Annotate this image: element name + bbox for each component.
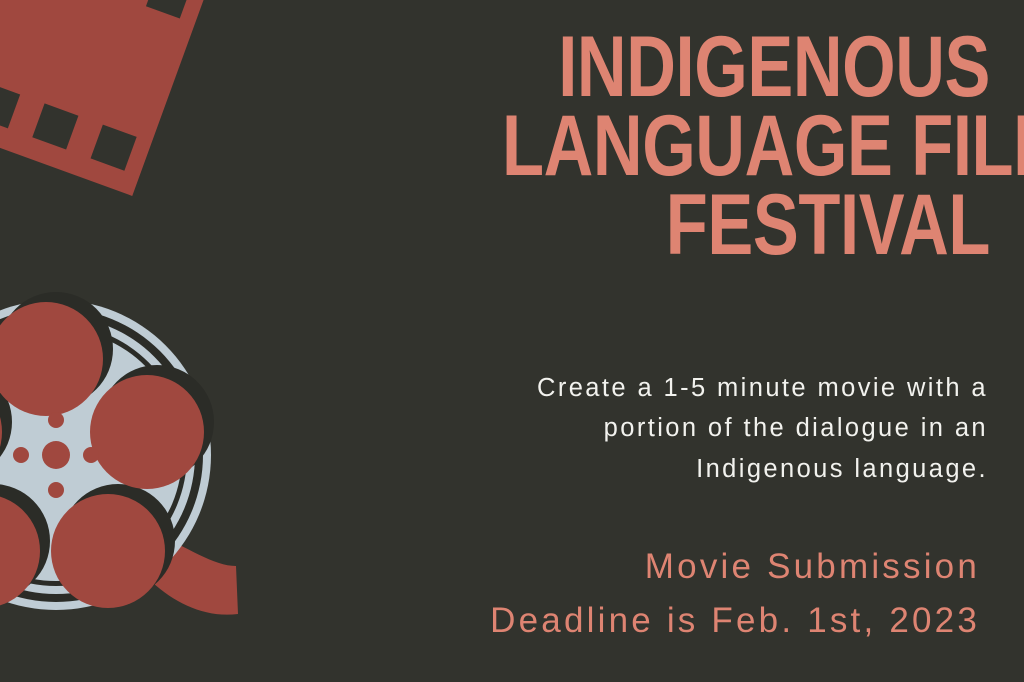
deadline-line-1: Movie Submission	[380, 540, 980, 594]
film-strip-graphic	[0, 0, 213, 196]
deadline-text: Movie Submission Deadline is Feb. 1st, 2…	[380, 540, 980, 649]
title-line-1: INDIGENOUS	[502, 28, 990, 107]
description-line-2: portion of the dialogue in an	[380, 408, 988, 448]
poster: INDIGENOUS LANGUAGE FILM FESTIVAL Create…	[0, 0, 1024, 682]
reel-hub-dot	[42, 441, 70, 469]
film-reel-graphic	[0, 292, 214, 610]
page-title: INDIGENOUS LANGUAGE FILM FESTIVAL	[380, 28, 990, 265]
description-text: Create a 1-5 minute movie with a portion…	[380, 368, 988, 489]
description-line-1: Create a 1-5 minute movie with a	[380, 368, 988, 408]
film-tail-graphic	[141, 530, 238, 615]
content-column: INDIGENOUS LANGUAGE FILM FESTIVAL Create…	[380, 0, 990, 682]
title-line-2: LANGUAGE FILM	[502, 107, 990, 186]
description-line-3: Indigenous language.	[380, 449, 988, 489]
title-line-3: FESTIVAL	[502, 186, 990, 265]
deadline-line-2: Deadline is Feb. 1st, 2023	[380, 594, 980, 648]
